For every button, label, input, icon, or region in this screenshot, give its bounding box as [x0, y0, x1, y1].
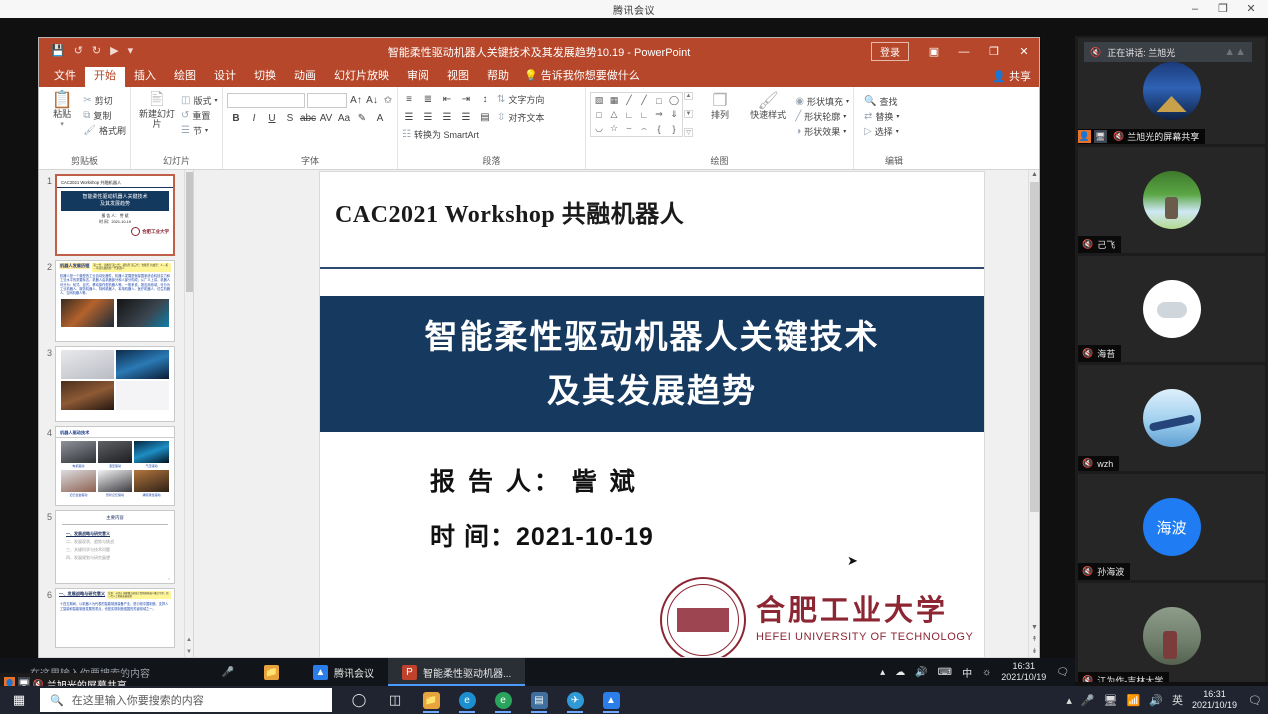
participant-name-tag: 🔇 孙海波 — [1078, 563, 1130, 580]
thumb-title: 机器人发展历程 — [59, 263, 90, 269]
tab-draw[interactable]: 绘图 — [165, 67, 205, 87]
thumbnail-canvas[interactable]: 一、发展战略与研究意义 背景：十四五 国家重点研发计划智能机器人重点专项；新一代… — [55, 588, 175, 648]
agenda-item: 二、发展现状、趋势与挑战 — [66, 538, 164, 546]
taskbar-clock[interactable]: 16:31 2021/10/19 — [1192, 689, 1237, 711]
slide-number: 4 — [41, 426, 55, 438]
quick-styles-button[interactable]: 🖌 快速样式 — [747, 92, 789, 120]
action-center-icon[interactable]: 🗨 — [1246, 691, 1264, 709]
avatar — [1143, 62, 1201, 120]
mic-off-icon: 🔇 — [1082, 675, 1093, 682]
select-icon: ▷ — [864, 126, 872, 137]
group-label-slides: 幻灯片 — [135, 154, 218, 169]
thumb-title: 机器人驱动技术 — [56, 427, 174, 438]
line-spacing-icon[interactable]: ↕ — [478, 92, 492, 107]
thumb-header: CAC2021 Workshop 共融机器人 — [57, 176, 173, 188]
search-input[interactable]: 🔍 在这里输入你要搜索的内容 — [40, 688, 332, 712]
ribbon-tab-strip: 文件 开始 插入 绘图 设计 切换 动画 幻灯片放映 审阅 视图 帮助 💡 告诉… — [39, 65, 1039, 87]
mic-off-icon: 🔇 — [1082, 566, 1093, 577]
meeting-logo-icon: ▲▲ — [1224, 46, 1246, 58]
format-painter-icon: 🖌 — [83, 125, 96, 136]
scrollbar-thumb[interactable] — [186, 172, 193, 292]
text-highlight-icon[interactable]: ✎ — [355, 111, 369, 126]
keyboard-icon[interactable]: ⌨ — [938, 667, 952, 678]
shape-outline-label: 形状轮廓 — [804, 110, 840, 123]
avatar — [1143, 171, 1201, 229]
thumbnail-canvas[interactable] — [55, 346, 175, 422]
slide-thumbnail-4[interactable]: 4 机器人驱动技术 电机驱动 液压驱动 气压驱动 记忆合金驱动 形状记忆驱动 绳… — [39, 422, 193, 506]
previous-slide-icon[interactable]: ↟ — [1029, 635, 1040, 643]
restore-icon[interactable]: ❐ — [979, 38, 1009, 65]
reset-button[interactable]: ↺重置 — [181, 109, 217, 122]
shapes-gallery[interactable]: ▧▦╱╱□◯ □△∟∟⇒⇓ ◡☆⌣⌢{} — [590, 92, 683, 137]
participant-tile[interactable]: 🔇 海苔 — [1078, 256, 1265, 362]
taskbar-item-file-explorer[interactable]: 📁 — [250, 658, 299, 686]
thumb-university: 合肥工业大学 — [142, 229, 169, 235]
quick-styles-icon: 🖌 — [757, 92, 779, 109]
smartart-icon: ☷ — [402, 129, 411, 140]
ime-language-icon[interactable]: 中 — [962, 665, 972, 680]
change-case-button[interactable]: Aa — [337, 111, 351, 126]
close-icon[interactable]: ✕ — [1009, 38, 1039, 65]
agenda-item: 一、发展战略与研究意义 — [66, 530, 164, 538]
tab-file[interactable]: 文件 — [45, 67, 85, 87]
mic-icon[interactable]: 🎤 — [1081, 694, 1095, 707]
mouse-cursor: ➤ — [847, 553, 858, 569]
input-mode-icon[interactable]: ☼ — [982, 667, 991, 678]
taskbar-item-label: 智能柔性驱动机器... — [423, 665, 511, 680]
scroll-up-icon[interactable]: ▲ — [1029, 171, 1040, 178]
tell-me-search[interactable]: 💡 告诉我你想要做什么 — [518, 65, 646, 87]
browser-icon[interactable]: e — [486, 686, 520, 714]
align-right-icon[interactable]: ☰ — [440, 110, 454, 125]
font-size-input[interactable] — [307, 93, 347, 108]
university-seal-icon — [660, 577, 746, 663]
share-label: 共享 — [1009, 68, 1031, 84]
ribbon-group-drawing: ▧▦╱╱□◯ □△∟∟⇒⇓ ◡☆⌣⌢{} ▲ ▼ ▽ ❐ — [586, 87, 854, 169]
slide-header-text[interactable]: CAC2021 Workshop 共融机器人 — [335, 194, 964, 229]
powerpoint-icon: P — [402, 665, 417, 680]
format-painter-button[interactable]: 🖌格式刷 — [83, 124, 126, 137]
mic-off-icon: 🔇 — [1082, 348, 1093, 359]
character-spacing-button[interactable]: AV — [319, 111, 333, 126]
volume-icon[interactable]: 🔊 — [915, 667, 927, 678]
avatar — [1143, 607, 1201, 665]
columns-icon[interactable]: ▤ — [478, 110, 492, 125]
select-label: 选择 — [875, 125, 893, 138]
ribbon-group-editing: 🔍查找 ⇄替换▾ ▷选择▾ 编辑 — [854, 87, 934, 169]
university-seal-icon — [131, 227, 140, 236]
text-shadow-button[interactable]: S — [283, 111, 297, 126]
avatar: 海波 — [1143, 498, 1201, 556]
university-name-cn: 合肥工业大学 — [756, 595, 948, 627]
meeting-titlebar: 腾讯会议 – ❐ ✕ — [0, 0, 1268, 18]
clock-time: 16:31 — [1013, 661, 1036, 671]
avatar — [1143, 280, 1201, 338]
meeting-body: 💾 ↺ ↻ ▶ ▾ 智能柔性驱动机器人关键技术及其发展趋势10.19 - Pow… — [0, 18, 1268, 686]
person-icon: 👤 — [992, 70, 1006, 83]
thumb-band-line2: 及其发展趋势 — [62, 201, 168, 208]
search-icon: 🔍 — [864, 96, 876, 107]
thumb-logo: 合肥工业大学 — [57, 225, 173, 239]
shape-outline-icon: ╱ — [795, 111, 801, 122]
clock-date: 2021/10/19 — [1001, 672, 1046, 682]
participant-name: wzh — [1097, 459, 1113, 469]
quick-access-toolbar: 💾 ↺ ↻ ▶ ▾ — [39, 46, 133, 57]
tab-design[interactable]: 设计 — [205, 67, 245, 87]
section-icon: ☰ — [181, 125, 190, 136]
ribbon-group-paragraph: ≡ ≣ ⇤ ⇥ ↕ ⇅文字方向 ☰ ☰ ☰ ☰ ▤ — [398, 87, 586, 169]
telegram-icon[interactable]: ✈ — [558, 686, 592, 714]
shared-taskbar-tray: ▴ ☁ 🔊 ⌨ 中 ☼ 16:31 2021/10/19 🗨 — [880, 661, 1069, 683]
replace-icon: ⇄ — [864, 111, 872, 122]
convert-smartart-button[interactable]: ☷转换为 SmartArt — [402, 128, 479, 141]
calculator-icon[interactable]: ▤ — [522, 686, 556, 714]
section-button[interactable]: ☰节▾ — [181, 124, 217, 137]
thumb-body: 机器人是一个典型的工业自动化器件，机器人发展是衡量国家综合科技实力和工业水平的重… — [56, 273, 174, 297]
microphone-icon[interactable]: 🎤 — [222, 667, 250, 678]
current-slide[interactable]: CAC2021 Workshop 共融机器人 智能柔性驱动机器人关键技术 及其发… — [319, 171, 985, 674]
presenter-icon: 👤 — [1078, 130, 1091, 143]
decrease-indent-icon[interactable]: ⇤ — [440, 92, 454, 107]
slide-divider-line — [320, 267, 984, 269]
find-button[interactable]: 🔍查找 — [864, 95, 899, 108]
powerpoint-window-controls: 登录 ▣ — ❐ ✕ — [871, 38, 1039, 65]
powerpoint-main-area: 1 CAC2021 Workshop 共融机器人 智能柔性驱动机器人关键技术 及… — [39, 170, 1039, 657]
paste-button[interactable]: 📋 粘贴 ▾ — [43, 91, 81, 130]
slide-number: 5 — [41, 510, 55, 522]
slide-thumbnail-5[interactable]: 5 主要内容 一、发展战略与研究意义 二、发展现状、趋势与挑战 三、关键科学与技… — [39, 506, 193, 584]
start-slideshow-icon[interactable]: ▶ — [110, 46, 118, 57]
slide-thumbnail-2[interactable]: 2 机器人发展历程 第一代：示教型 第二代：感知型 第三代：智能型 共融型：人－… — [39, 256, 193, 342]
search-icon: 🔍 — [50, 694, 64, 707]
align-center-icon[interactable]: ☰ — [421, 110, 435, 125]
slide-number: 3 — [41, 346, 55, 358]
slide-number: 1 — [41, 174, 55, 186]
scroll-up-icon[interactable]: ▲ — [684, 92, 693, 100]
participant-name: 兰旭光的屏幕共享 — [1127, 130, 1199, 143]
thumb-caption: 绳索柔性驱动 — [134, 493, 169, 497]
taskbar-icons: ◯ ◫ 📁 e e ▤ ✈ ▲ — [342, 686, 628, 714]
participant-name-tag: 🔇 海苔 — [1078, 345, 1121, 362]
tab-view[interactable]: 视图 — [438, 67, 478, 87]
participant-name: 江为作-吉林大学 — [1097, 674, 1163, 682]
shape-fill-label: 形状填充 — [807, 95, 843, 108]
meeting-window-title: 腾讯会议 — [613, 2, 655, 17]
participant-tile[interactable]: 🔇 己飞 — [1078, 147, 1265, 253]
tencent-meeting-window: 腾讯会议 – ❐ ✕ 💾 ↺ ↻ ▶ ▾ 智能柔性驱动机器人关键技术及其发展趋势… — [0, 0, 1268, 686]
shape-fill-icon: ◉ — [795, 96, 804, 107]
replace-button[interactable]: ⇄替换▾ — [864, 110, 899, 123]
agenda-item: 四、发展规划与研究展望 — [66, 554, 164, 562]
mic-off-icon: 🔇 — [1082, 458, 1093, 469]
slide-title-line1: 智能柔性驱动机器人关键技术 — [425, 310, 880, 364]
thumb-images: 电机驱动 液压驱动 气压驱动 记忆合金驱动 形状记忆驱动 绳索柔性驱动 — [56, 438, 174, 501]
search-placeholder: 在这里输入你要搜索的内容 — [72, 692, 204, 708]
network-icon[interactable]: 📶 — [1127, 694, 1141, 707]
share-button[interactable]: 👤 共享 — [992, 68, 1031, 84]
slide-main-title-box[interactable]: 智能柔性驱动机器人关键技术 及其发展趋势 — [320, 296, 984, 432]
justify-icon[interactable]: ☰ — [459, 110, 473, 125]
shared-screen-taskbar: 在这里输入你要搜索的内容 🎤 📁 ▲ 腾讯会议 P 智能柔性驱动机器... ▴ — [0, 658, 1075, 686]
replace-label: 替换 — [875, 110, 893, 123]
smartart-label: 转换为 SmartArt — [414, 128, 479, 141]
file-explorer-icon[interactable]: 📁 — [414, 686, 448, 714]
screen-icon: 🖥 — [1094, 130, 1107, 143]
font-name-input[interactable] — [227, 93, 305, 108]
ribbon-group-clipboard: 📋 粘贴 ▾ ✂剪切 ⧉复制 🖌格式刷 剪贴板 — [39, 87, 131, 169]
arrange-label: 排列 — [711, 110, 729, 120]
group-label-clipboard: 剪贴板 — [43, 154, 126, 169]
thumb-note: 背景：十四五 国家重点研发计划智能机器人重点专项；新一代人工智能发展规划 — [107, 591, 171, 599]
shape-fill-button[interactable]: ◉形状填充▾ — [795, 95, 849, 108]
underline-button[interactable]: U — [265, 111, 279, 126]
mic-off-icon: 🔇 — [1090, 47, 1101, 58]
slide-thumbnail-6[interactable]: 6 一、发展战略与研究意义 背景：十四五 国家重点研发计划智能机器人重点专项；新… — [39, 584, 193, 648]
thumb-caption: 气压驱动 — [134, 464, 169, 468]
participant-tile[interactable]: 🔇 正在讲话: 兰旭光 ▲▲ 👤 🖥 🔇 兰旭光的屏幕共享 — [1078, 38, 1265, 144]
arrange-icon: ❐ — [712, 92, 727, 109]
increase-font-size-button[interactable]: A↑ — [349, 93, 363, 108]
minimize-icon[interactable]: — — [949, 38, 979, 65]
mic-off-icon: 🔇 — [1082, 239, 1093, 250]
edge-icon[interactable]: e — [450, 686, 484, 714]
bullets-icon[interactable]: ≡ — [402, 92, 416, 107]
text-direction-icon: ⇅ — [497, 94, 505, 105]
copy-icon: ⧉ — [83, 110, 90, 121]
find-label: 查找 — [879, 95, 897, 108]
cut-label: 剪切 — [95, 94, 113, 107]
participant-name: 己飞 — [1097, 238, 1115, 251]
screen-share-tag: 👤 🖥 🔇 兰旭光的屏幕共享 — [1078, 129, 1205, 144]
slide-thumbnail-1[interactable]: 1 CAC2021 Workshop 共融机器人 智能柔性驱动机器人关键技术 及… — [39, 170, 193, 256]
slide-editing-area: CAC2021 Workshop 共融机器人 智能柔性驱动机器人关键技术 及其发… — [194, 170, 1039, 657]
participant-name: 海苔 — [1097, 347, 1115, 360]
participant-tile[interactable]: 🔇 江为作-吉林大学 — [1078, 583, 1265, 682]
taskbar-item-label: 腾讯会议 — [334, 665, 374, 680]
slide-thumbnail-3[interactable]: 3 — [39, 342, 193, 422]
slide-thumbnail-pane[interactable]: 1 CAC2021 Workshop 共融机器人 智能柔性驱动机器人关键技术 及… — [39, 170, 194, 657]
text-direction-button[interactable]: ⇅文字方向 — [497, 93, 544, 106]
thumb-page-number: 2 — [168, 577, 170, 581]
speaking-indicator: 🔇 正在讲话: 兰旭光 ▲▲ — [1084, 42, 1252, 62]
align-left-icon[interactable]: ☰ — [402, 110, 416, 125]
taskbar-item-tencent-meeting[interactable]: ▲ 腾讯会议 — [299, 658, 388, 686]
shape-effects-icon: ◑ — [795, 126, 801, 137]
action-center-icon[interactable]: 🗨 — [1056, 667, 1069, 678]
participant-tile[interactable]: 海波 🔇 孙海波 — [1078, 474, 1265, 580]
thumb-note: 第一代：示教型 第二代：感知型 第三代：智能型 共融型：人－机－环境共融的新一代… — [92, 263, 171, 272]
thumbnail-pane-scrollbar[interactable]: ▲ ▼ — [184, 170, 193, 657]
ribbon: 📋 粘贴 ▾ ✂剪切 ⧉复制 🖌格式刷 剪贴板 — [39, 87, 1039, 170]
clock-time: 16:31 — [1203, 689, 1226, 699]
file-explorer-icon: 📁 — [264, 665, 279, 680]
italic-button[interactable]: I — [247, 111, 261, 126]
clipboard-icon: 📋 — [52, 91, 73, 108]
save-icon[interactable]: 💾 — [51, 46, 65, 57]
participant-name: 孙海波 — [1097, 565, 1124, 578]
reset-label: 重置 — [192, 109, 210, 122]
thumb-title: 主要内容 — [62, 511, 168, 525]
participant-strip[interactable]: 🔇 正在讲话: 兰旭光 ▲▲ 👤 🖥 🔇 兰旭光的屏幕共享 🔇 己飞 — [1075, 36, 1268, 682]
group-label-paragraph: 段落 — [402, 154, 581, 169]
meeting-window-controls: – ❐ ✕ — [1188, 0, 1264, 18]
select-button[interactable]: ▷选择▾ — [864, 125, 899, 138]
avatar — [1143, 389, 1201, 447]
chevron-up-icon[interactable]: ▴ — [880, 667, 885, 678]
tencent-meeting-icon[interactable]: ▲ — [594, 686, 628, 714]
windows-taskbar: ▦ 🔍 在这里输入你要搜索的内容 ◯ ◫ 📁 e e ▤ ✈ ▲ ▴ 🎤 🖥 📶… — [0, 686, 1268, 714]
thumb-images — [56, 347, 174, 413]
cortana-icon[interactable]: ◯ — [342, 686, 376, 714]
align-text-label: 对齐文本 — [508, 111, 544, 124]
slide-presenter-text[interactable]: 报 告 人： 訾 斌 — [430, 462, 638, 498]
tab-review[interactable]: 审阅 — [398, 67, 438, 87]
reset-icon: ↺ — [181, 110, 189, 121]
slide-title-line2: 及其发展趋势 — [547, 364, 757, 418]
minimize-icon[interactable]: – — [1188, 0, 1202, 18]
thumbnail-canvas[interactable]: 机器人驱动技术 电机驱动 液压驱动 气压驱动 记忆合金驱动 形状记忆驱动 绳索柔… — [55, 426, 175, 506]
windows-start-icon[interactable]: ▦ — [0, 686, 38, 714]
new-slide-label: 新建幻灯片 — [135, 109, 179, 129]
layout-icon: ◫ — [181, 95, 190, 106]
section-label: 节 — [193, 124, 202, 137]
slide-number: 2 — [41, 260, 55, 272]
shape-effects-label: 形状效果 — [804, 125, 840, 138]
thumb-caption: 液压驱动 — [98, 464, 133, 468]
tab-animations[interactable]: 动画 — [285, 67, 325, 87]
thumb-title: 一、发展战略与研究意义 — [59, 591, 105, 599]
thumb-caption: 形状记忆驱动 — [98, 493, 133, 497]
text-direction-label: 文字方向 — [508, 93, 544, 106]
slide-number: 6 — [41, 588, 55, 600]
taskbar-item-powerpoint[interactable]: P 智能柔性驱动机器... — [388, 658, 525, 686]
chevron-down-icon[interactable]: ▾ — [60, 120, 64, 130]
strikethrough-button[interactable]: abc — [301, 111, 315, 126]
chevron-up-icon[interactable]: ▴ — [1066, 694, 1072, 707]
ribbon-display-options-icon[interactable]: ▣ — [919, 38, 949, 65]
scrollbar-thumb[interactable] — [1030, 182, 1039, 512]
scroll-down-icon[interactable]: ▼ — [1029, 624, 1040, 631]
tab-help[interactable]: 帮助 — [478, 67, 518, 87]
lightbulb-icon: 💡 — [524, 69, 538, 82]
participant-name-tag: 🔇 wzh — [1078, 456, 1119, 471]
tab-transitions[interactable]: 切换 — [245, 67, 285, 87]
font-color-icon[interactable]: A — [373, 111, 387, 126]
ribbon-group-slides: 🖹 新建幻灯片 ◫版式▾ ↺重置 ☰节▾ 幻灯片 — [131, 87, 223, 169]
numbering-icon[interactable]: ≣ — [421, 92, 435, 107]
increase-indent-icon[interactable]: ⇥ — [459, 92, 473, 107]
new-slide-icon: 🖹 — [150, 91, 164, 108]
powerpoint-window: 💾 ↺ ↻ ▶ ▾ 智能柔性驱动机器人关键技术及其发展趋势10.19 - Pow… — [38, 37, 1040, 680]
clear-formatting-icon[interactable]: ✩ — [381, 93, 395, 108]
speaking-label: 正在讲话: 兰旭光 — [1107, 46, 1175, 59]
shape-outline-button[interactable]: ╱形状轮廓▾ — [795, 110, 849, 123]
mic-off-icon: 🔇 — [1110, 131, 1124, 142]
scroll-down-icon[interactable]: ▼ — [684, 110, 693, 118]
system-tray: ▴ 🎤 🖥 📶 🔊 英 16:31 2021/10/19 🗨 — [1066, 689, 1264, 711]
copy-label: 复制 — [93, 109, 111, 122]
tab-home[interactable]: 开始 — [85, 67, 125, 87]
close-icon[interactable]: ✕ — [1244, 0, 1258, 18]
agenda-item: 三、关键科学与技术问题 — [66, 546, 164, 554]
ribbon-group-font: A↑ A↓ ✩ B I U S abc AV Aa ✎ — [223, 87, 398, 169]
layout-label: 版式 — [193, 94, 211, 107]
thumbnail-canvas[interactable]: 主要内容 一、发展战略与研究意义 二、发展现状、趋势与挑战 三、关键科学与技术问… — [55, 510, 175, 584]
thumb-agenda: 一、发展战略与研究意义 二、发展现状、趋势与挑战 三、关键科学与技术问题 四、发… — [56, 525, 174, 567]
thumb-body: 十四五期间，以机器人为代表的智能制造装备产业，是引领中国制造、支撑人工智能和智能… — [56, 600, 174, 613]
paste-label: 粘贴 — [53, 109, 71, 119]
layout-button[interactable]: ◫版式▾ — [181, 94, 217, 107]
shared-taskbar-clock[interactable]: 16:31 2021/10/19 — [1001, 661, 1046, 683]
thumb-band: 智能柔性驱动机器人关键技术 及其发展趋势 — [61, 191, 169, 211]
scroll-up-icon[interactable]: ▲ — [186, 637, 192, 643]
slide-university-logo: 合肥工业大学 HEFEI UNIVERSITY OF TECHNOLOGY — [660, 577, 973, 663]
task-view-icon[interactable]: ◫ — [378, 686, 412, 714]
ime-icon[interactable]: 英 — [1172, 692, 1183, 708]
customize-qat-icon[interactable]: ▾ — [128, 46, 134, 57]
slide-time-text[interactable]: 时 间：2021-10-19 — [430, 517, 654, 553]
participant-tile[interactable]: 🔇 wzh — [1078, 365, 1265, 471]
bold-button[interactable]: B — [229, 111, 243, 126]
tell-me-label: 告诉我你想要做什么 — [541, 67, 640, 83]
shape-effects-button[interactable]: ◑形状效果▾ — [795, 125, 849, 138]
sign-in-button[interactable]: 登录 — [871, 42, 909, 61]
university-name-en: HEFEI UNIVERSITY OF TECHNOLOGY — [756, 631, 973, 643]
thumbnail-canvas[interactable]: 机器人发展历程 第一代：示教型 第二代：感知型 第三代：智能型 共融型：人－机－… — [55, 260, 175, 342]
tab-slideshow[interactable]: 幻灯片放映 — [325, 67, 398, 87]
undo-icon[interactable]: ↺ — [74, 46, 83, 57]
scroll-down-icon[interactable]: ▼ — [186, 649, 192, 655]
shapes-gallery-scrollbar[interactable]: ▲ ▼ ▽ — [684, 92, 693, 137]
thumb-images — [56, 297, 174, 331]
more-shapes-icon[interactable]: ▽ — [684, 128, 693, 137]
new-slide-button[interactable]: 🖹 新建幻灯片 — [135, 91, 179, 129]
shared-taskbar-items: 📁 ▲ 腾讯会议 P 智能柔性驱动机器... — [250, 658, 525, 686]
cut-button[interactable]: ✂剪切 — [83, 94, 126, 107]
group-label-font: 字体 — [227, 154, 393, 169]
group-label-drawing: 绘图 — [590, 154, 849, 169]
thumb-caption: 电机驱动 — [61, 464, 96, 468]
volume-icon[interactable]: 🔊 — [1149, 694, 1163, 707]
format-painter-label: 格式刷 — [99, 124, 126, 137]
quick-styles-label: 快速样式 — [750, 110, 786, 120]
next-slide-icon[interactable]: ↡ — [1029, 647, 1040, 655]
decrease-font-size-button[interactable]: A↓ — [365, 93, 379, 108]
redo-icon[interactable]: ↻ — [92, 46, 101, 57]
thumb-caption: 记忆合金驱动 — [61, 493, 96, 497]
group-label-editing: 编辑 — [858, 154, 930, 169]
screen-icon[interactable]: 🖥 — [1104, 694, 1118, 707]
thumb-band-line1: 智能柔性驱动机器人关键技术 — [62, 194, 168, 201]
tencent-meeting-icon: ▲ — [313, 665, 328, 680]
maximize-icon[interactable]: ❐ — [1216, 0, 1230, 18]
powerpoint-titlebar: 💾 ↺ ↻ ▶ ▾ 智能柔性驱动机器人关键技术及其发展趋势10.19 - Pow… — [39, 38, 1039, 65]
align-text-button[interactable]: ⇳对齐文本 — [497, 111, 544, 124]
align-text-icon: ⇳ — [497, 112, 505, 123]
thumbnail-canvas[interactable]: CAC2021 Workshop 共融机器人 智能柔性驱动机器人关键技术 及其发… — [55, 174, 175, 256]
copy-button[interactable]: ⧉复制 — [83, 109, 126, 122]
tab-insert[interactable]: 插入 — [125, 67, 165, 87]
participant-name-tag: 🔇 己飞 — [1078, 236, 1121, 253]
arrange-button[interactable]: ❐ 排列 — [699, 92, 741, 120]
cloud-icon[interactable]: ☁ — [895, 667, 905, 678]
participant-name-tag: 🔇 江为作-吉林大学 — [1078, 672, 1169, 682]
scissors-icon: ✂ — [83, 95, 91, 106]
slide-area-scrollbar[interactable]: ▲ ▼ ↟ ↡ — [1028, 170, 1039, 657]
clock-date: 2021/10/19 — [1192, 700, 1237, 710]
